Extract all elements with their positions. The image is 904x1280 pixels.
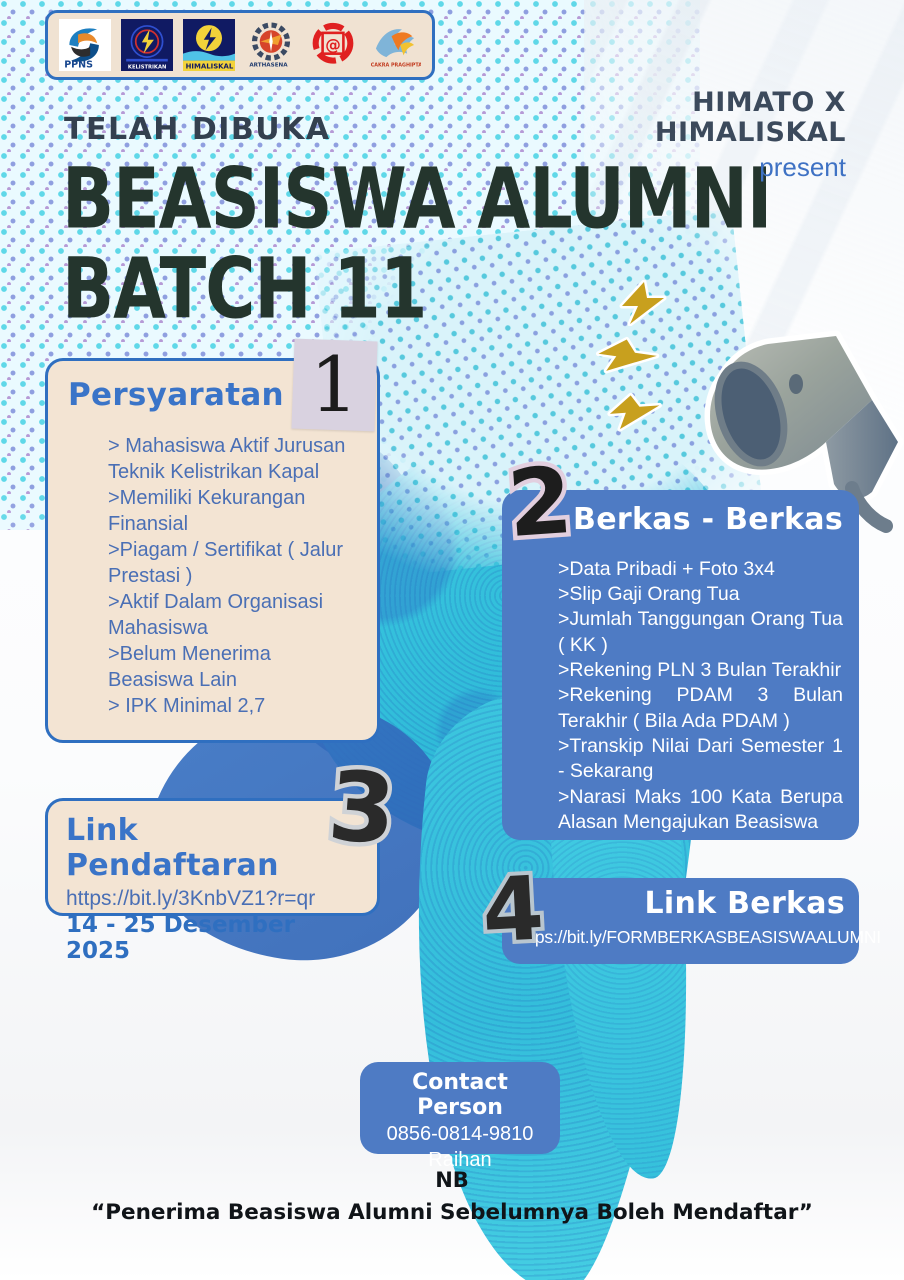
organization-logo-bar: PPNS KELISTRIKAN HIMALISKAL bbox=[45, 10, 435, 80]
presenter-orgs: HIMATO X HIMALISKAL bbox=[546, 88, 846, 148]
list-item: >Piagam / Sertifikat ( Jalur Prestasi ) bbox=[108, 537, 359, 589]
berkas-list: >Data Pribadi + Foto 3x4 >Slip Gaji Oran… bbox=[518, 557, 843, 836]
list-item: >Rekening PDAM 3 Bulan Terakhir ( Bila A… bbox=[558, 683, 843, 734]
note-text: “Penerima Beasiswa Alumni Sebelumnya Bol… bbox=[0, 1200, 904, 1225]
list-item: >Narasi Maks 100 Kata Berupa Alasan Meng… bbox=[558, 785, 843, 836]
link-pendaftaran-url[interactable]: https://bit.ly/3KnbVZ1?r=qr bbox=[66, 887, 359, 911]
list-item: >Aktif Dalam Organisasi Mahasiswa bbox=[108, 589, 359, 641]
kicker-text: TELAH DIBUKA bbox=[64, 112, 331, 147]
lightning-bolt-icon bbox=[605, 390, 668, 439]
svg-text:KELISTRIKAN: KELISTRIKAN bbox=[128, 64, 166, 70]
link-pendaftaran-dates: 14 - 25 Desember 2025 bbox=[66, 912, 359, 964]
contact-heading: Contact Person bbox=[370, 1070, 550, 1120]
teknik-kelistrikan-kapal-logo: KELISTRIKAN bbox=[120, 16, 174, 74]
svg-text:CAKRA PRAGHIPTA: CAKRA PRAGHIPTA bbox=[371, 63, 421, 69]
step-number-4-sticker: 4 bbox=[468, 860, 559, 960]
list-item: >Belum Menerima Beasiswa Lain bbox=[108, 641, 359, 693]
svg-text:ARTHASENA: ARTHASENA bbox=[249, 63, 288, 69]
svg-text:HIMALISKAL: HIMALISKAL bbox=[186, 62, 234, 70]
poster-title: BEASISWA ALUMNI BATCH 11 bbox=[62, 160, 662, 339]
title-line-2: BATCH 11 bbox=[62, 250, 674, 330]
list-item: >Jumlah Tanggungan Orang Tua ( KK ) bbox=[558, 607, 843, 658]
contact-phone[interactable]: 0856-0814-9810 bbox=[370, 1122, 550, 1146]
arthasena-logo: ARTHASENA bbox=[244, 16, 298, 74]
step-number-3-sticker: 3 bbox=[315, 755, 410, 861]
list-item: >Slip Gaji Orang Tua bbox=[558, 582, 843, 607]
step-number-1-sticker: 1 bbox=[291, 339, 377, 432]
svg-text:@: @ bbox=[325, 36, 341, 54]
step-number-4-label: 4 bbox=[480, 864, 546, 955]
cakra-praghipta-logo: CAKRA PRAGHIPTA bbox=[368, 16, 422, 74]
lightning-bolt-icon bbox=[591, 331, 667, 387]
step-number-2-label: 2 bbox=[505, 455, 575, 551]
link-berkas-heading: Link Berkas bbox=[516, 886, 845, 921]
note-label: NB bbox=[0, 1168, 904, 1192]
presenter-word: present bbox=[546, 152, 846, 183]
scholarship-poster: PPNS KELISTRIKAN HIMALISKAL bbox=[0, 0, 904, 1280]
list-item: >Transkip Nilai Dari Semester 1 - Sekara… bbox=[558, 734, 843, 785]
ppns-logo: PPNS bbox=[58, 16, 112, 74]
himaliskal-logo: HIMALISKAL bbox=[182, 16, 236, 74]
step-number-2-sticker: 2 bbox=[492, 452, 588, 554]
list-item: >Data Pribadi + Foto 3x4 bbox=[558, 557, 843, 582]
step-number-1-label: 1 bbox=[310, 347, 358, 423]
step-number-3-label: 3 bbox=[325, 758, 398, 858]
persyaratan-list: > Mahasiswa Aktif Jurusan Teknik Kelistr… bbox=[68, 433, 359, 719]
list-item: > IPK Minimal 2,7 bbox=[108, 693, 359, 719]
svg-text:PPNS: PPNS bbox=[64, 60, 93, 71]
presenter-block: HIMATO X HIMALISKAL present bbox=[546, 88, 846, 183]
contact-person-card: Contact Person 0856-0814-9810 Raihan bbox=[360, 1062, 560, 1154]
list-item: >Memiliki Kekurangan Finansial bbox=[108, 485, 359, 537]
list-item: > Mahasiswa Aktif Jurusan Teknik Kelistr… bbox=[108, 433, 359, 485]
at-logo: @ bbox=[306, 16, 360, 74]
list-item: >Rekening PLN 3 Bulan Terakhir bbox=[558, 658, 843, 683]
link-berkas-url[interactable]: https://bit.ly/FORMBERKASBEASISWAALUMNI bbox=[516, 927, 845, 948]
